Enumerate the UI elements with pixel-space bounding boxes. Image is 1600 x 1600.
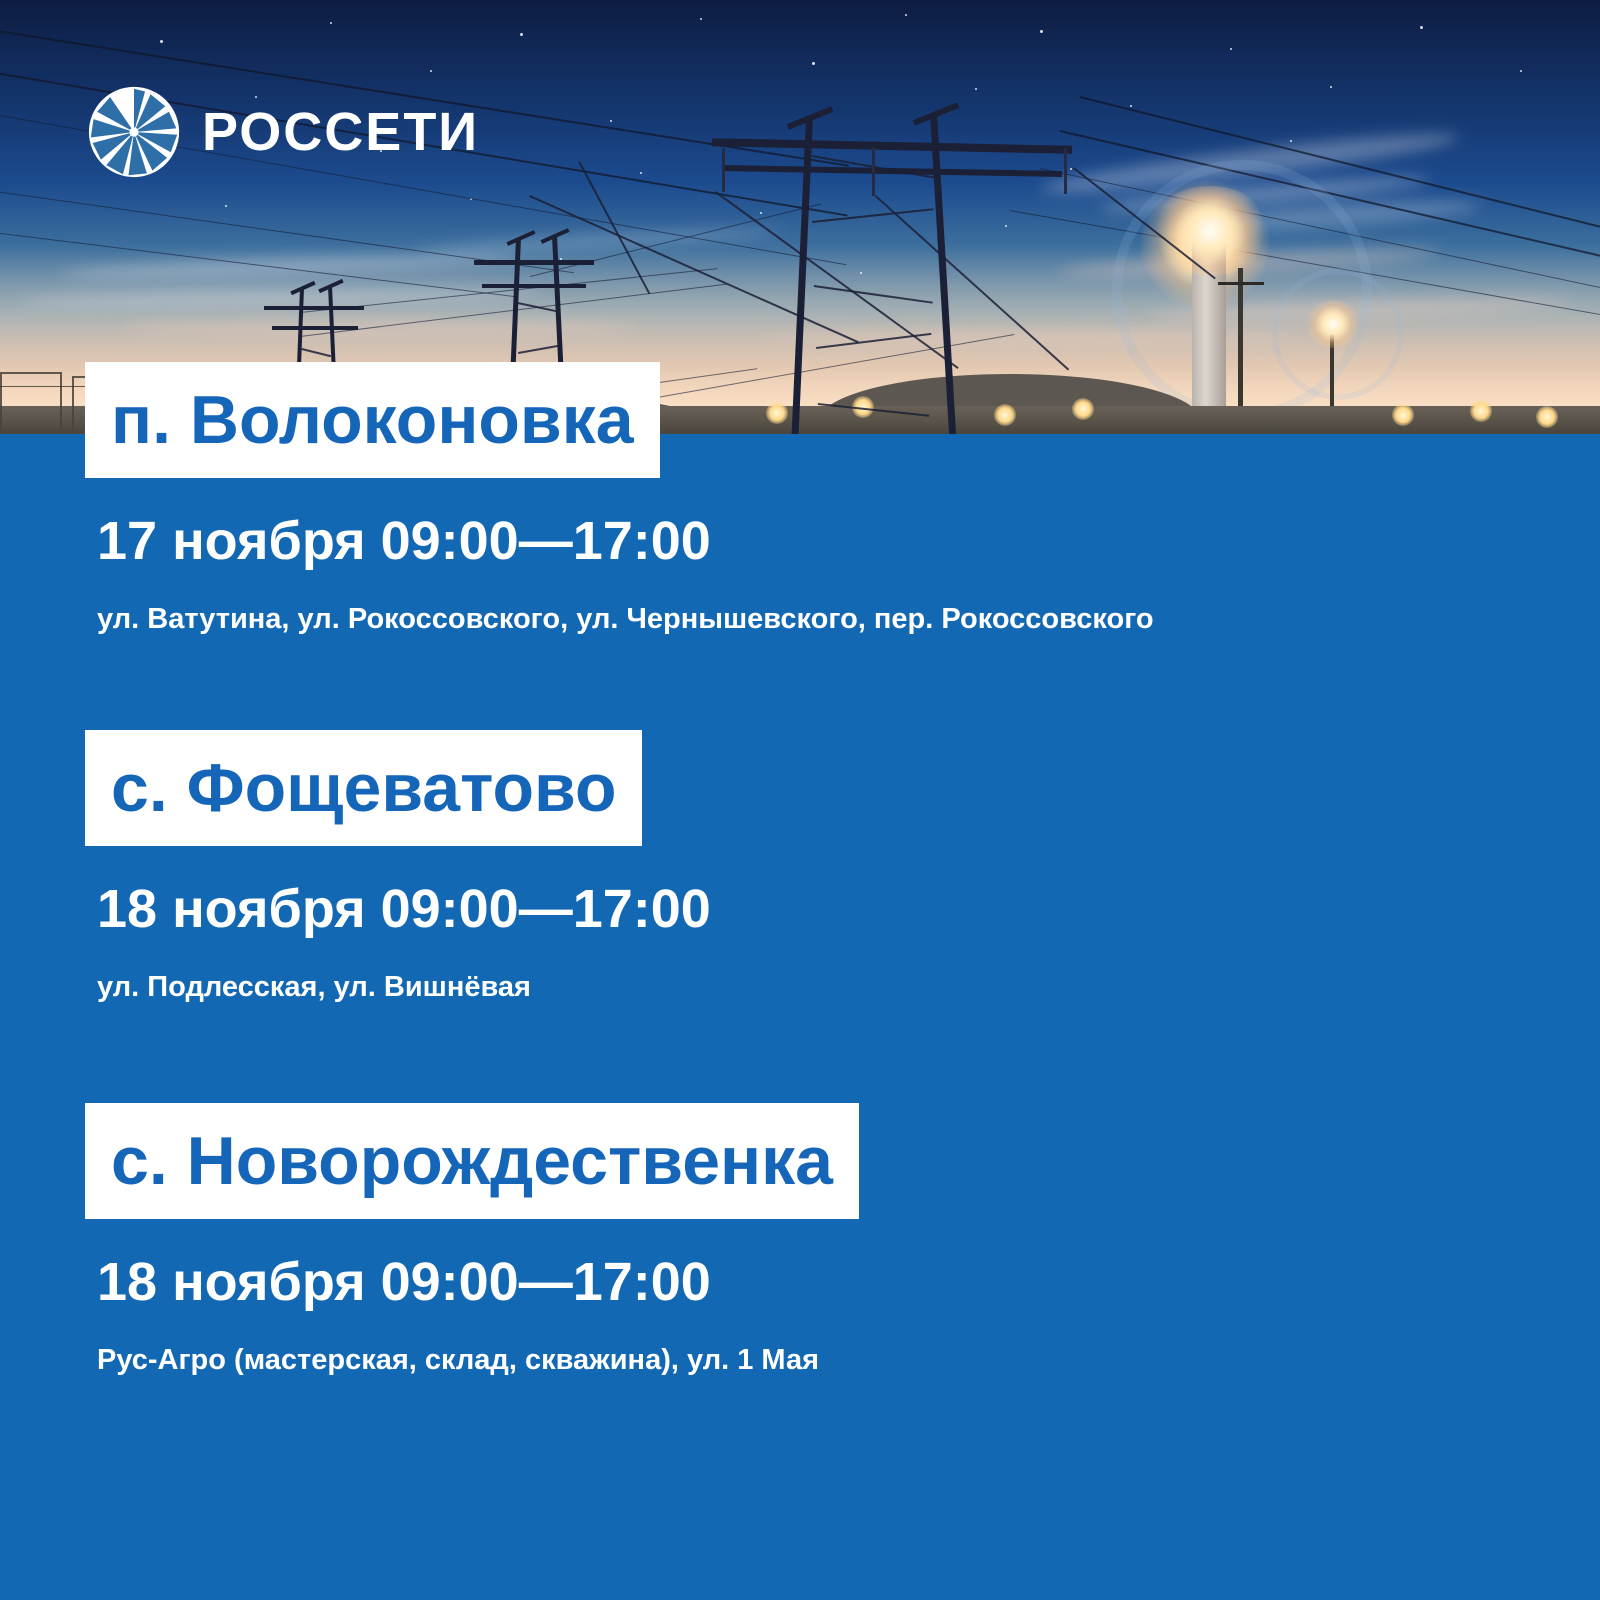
star xyxy=(225,205,227,207)
rosseti-logo: РОССЕТИ xyxy=(88,86,479,178)
star xyxy=(610,120,612,122)
star xyxy=(975,88,977,90)
star xyxy=(520,33,523,36)
tower-conductor xyxy=(875,195,1070,370)
star xyxy=(330,22,332,24)
pole-lamp-glow xyxy=(1304,300,1362,348)
star xyxy=(1330,86,1332,88)
star xyxy=(812,62,815,65)
locality-name: с. Фощеватово xyxy=(85,730,642,846)
tower-peak xyxy=(506,230,535,246)
outage-streets: ул. Ватутина, ул. Рокоссовского, ул. Чер… xyxy=(85,602,1154,637)
tower-brace xyxy=(814,285,933,304)
chimney-light xyxy=(1150,186,1270,276)
outage-notice-poster: РОССЕТИ п. Волоконовка 17 ноября 09:00—1… xyxy=(0,0,1600,1600)
ground-lamp xyxy=(1470,400,1492,422)
ground-lamp xyxy=(1536,406,1558,428)
star xyxy=(430,70,432,72)
ground-lamp xyxy=(1392,404,1414,426)
outage-item: п. Волоконовка 17 ноября 09:00—17:00 ул.… xyxy=(85,362,1154,637)
outage-streets: Рус-Агро (мастерская, склад, скважина), … xyxy=(85,1343,859,1378)
tower-brace xyxy=(518,345,558,354)
outage-streets: ул. Подлесская, ул. Вишнёвая xyxy=(85,970,711,1005)
tower-insulator xyxy=(1064,148,1067,194)
star xyxy=(700,18,702,20)
star xyxy=(1130,105,1132,107)
star xyxy=(640,172,642,174)
tower-crossarm xyxy=(712,138,1072,154)
outage-datetime: 18 ноября 09:00—17:00 xyxy=(85,882,711,936)
outage-datetime: 18 ноября 09:00—17:00 xyxy=(85,1255,859,1309)
star xyxy=(1290,140,1292,142)
outage-item: с. Фощеватово 18 ноября 09:00—17:00 ул. … xyxy=(85,730,711,1005)
star xyxy=(1040,30,1043,33)
star xyxy=(1230,48,1232,50)
locality-name: п. Волоконовка xyxy=(85,362,660,478)
rosseti-sun-logo-icon xyxy=(88,86,180,178)
pole-crossarm xyxy=(1218,282,1264,285)
rosseti-wordmark: РОССЕТИ xyxy=(202,105,479,159)
tower-brace xyxy=(302,348,332,357)
tower-brace xyxy=(812,208,934,223)
tower-insulator xyxy=(872,148,875,196)
star xyxy=(160,40,163,43)
substation-gantry xyxy=(0,372,62,430)
tower-insulator xyxy=(722,148,725,192)
star xyxy=(1420,26,1423,29)
star xyxy=(905,14,907,16)
outage-item: с. Новорождественка 18 ноября 09:00—17:0… xyxy=(85,1103,859,1378)
star xyxy=(1520,70,1522,72)
locality-name: с. Новорождественка xyxy=(85,1103,859,1219)
outage-datetime: 17 ноября 09:00—17:00 xyxy=(85,514,1154,568)
